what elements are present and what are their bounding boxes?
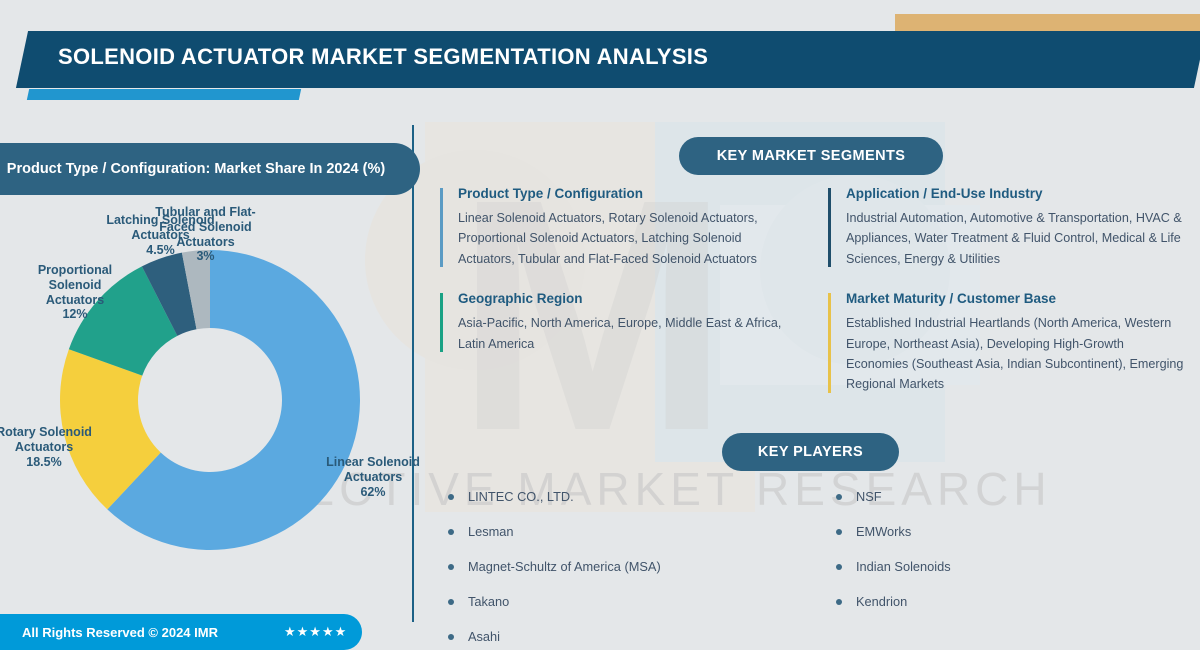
page-title: SOLENOID ACTUATOR MARKET SEGMENTATION AN… bbox=[58, 44, 708, 70]
segments-column-left: Product Type / ConfigurationLinear Solen… bbox=[440, 186, 800, 376]
star-rating-icon: ★★★★★ bbox=[284, 624, 347, 640]
key-market-segments-label: KEY MARKET SEGMENTS bbox=[717, 148, 906, 164]
list-item: Magnet-Schultz of America (MSA) bbox=[440, 558, 810, 593]
segment-body: Industrial Automation, Automotive & Tran… bbox=[846, 208, 1188, 269]
chart-title-pill: Product Type / Configuration: Market Sha… bbox=[0, 143, 420, 195]
segment-heading: Product Type / Configuration bbox=[458, 186, 800, 201]
segment-item: Geographic RegionAsia-Pacific, North Ame… bbox=[440, 291, 800, 354]
list-item: Indian Solenoids bbox=[828, 558, 1198, 593]
footer-bar: All Rights Reserved © 2024 IMR ★★★★★ bbox=[0, 614, 362, 650]
key-players-label: KEY PLAYERS bbox=[758, 444, 863, 460]
key-market-segments-pill: KEY MARKET SEGMENTS bbox=[679, 137, 943, 175]
segment-item: Market Maturity / Customer BaseEstablish… bbox=[828, 291, 1188, 395]
players-column-left: LINTEC CO., LTD.LesmanMagnet-Schultz of … bbox=[440, 488, 810, 650]
segment-heading: Application / End-Use Industry bbox=[846, 186, 1188, 201]
donut-slice-label: Rotary Solenoid Actuators 18.5% bbox=[0, 425, 104, 469]
segment-heading: Geographic Region bbox=[458, 291, 800, 306]
segment-item: Product Type / ConfigurationLinear Solen… bbox=[440, 186, 800, 269]
list-item: Lesman bbox=[440, 523, 810, 558]
list-item: Takano bbox=[440, 593, 810, 628]
copyright-text: All Rights Reserved © 2024 IMR bbox=[22, 625, 218, 640]
header-underline bbox=[27, 89, 301, 100]
players-column-right: NSFEMWorksIndian SolenoidsKendrion bbox=[828, 488, 1198, 628]
key-players-pill: KEY PLAYERS bbox=[722, 433, 899, 471]
segment-body: Asia-Pacific, North America, Europe, Mid… bbox=[458, 313, 800, 354]
vertical-divider bbox=[412, 125, 414, 622]
segment-item: Application / End-Use IndustryIndustrial… bbox=[828, 186, 1188, 269]
list-item: Asahi bbox=[440, 628, 810, 650]
donut-chart: Linear Solenoid Actuators 62%Rotary Sole… bbox=[0, 215, 412, 615]
donut-slice-label: Tubular and Flat-Faced Solenoid Actuator… bbox=[138, 205, 273, 264]
list-item: Kendrion bbox=[828, 593, 1198, 628]
list-item: NSF bbox=[828, 488, 1198, 523]
list-item: EMWorks bbox=[828, 523, 1198, 558]
donut-slice-label: Proportional Solenoid Actuators 12% bbox=[20, 263, 130, 322]
segments-column-right: Application / End-Use IndustryIndustrial… bbox=[828, 186, 1188, 417]
segment-body: Established Industrial Heartlands (North… bbox=[846, 313, 1188, 395]
list-item: LINTEC CO., LTD. bbox=[440, 488, 810, 523]
donut-slice-label: Linear Solenoid Actuators 62% bbox=[318, 455, 428, 499]
segment-body: Linear Solenoid Actuators, Rotary Soleno… bbox=[458, 208, 800, 269]
chart-title-label: Product Type / Configuration: Market Sha… bbox=[7, 160, 385, 179]
segment-heading: Market Maturity / Customer Base bbox=[846, 291, 1188, 306]
